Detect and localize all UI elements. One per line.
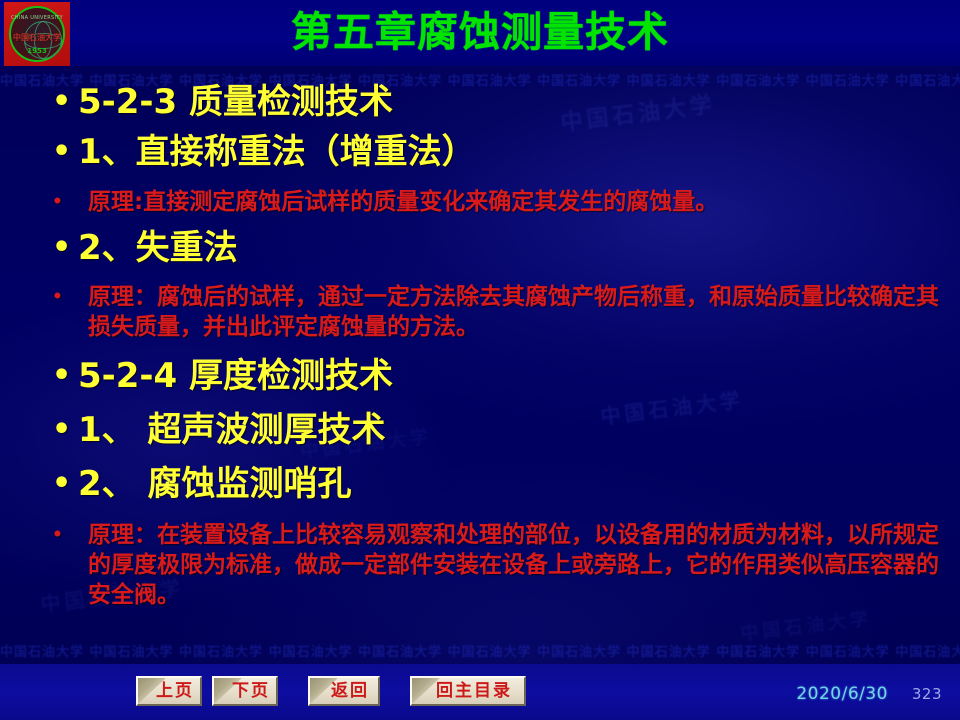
logo-arc-text: CHINA UNIVERSITY OF PETROLEUM <box>11 15 63 21</box>
slide-footer: 上页 下页 返回 回主目录 2020/6/30 323 <box>0 664 960 720</box>
sub-bullet-line: • 原理：在装置设备上比较容易观察和处理的部位，以设备用的材质为材料，以所规定的… <box>52 520 942 610</box>
back-button[interactable]: 返回 <box>308 676 380 706</box>
logo-year: 1953 <box>11 47 63 55</box>
next-page-label: 下页 <box>214 678 276 704</box>
bullet-line: • 2、 腐蚀监测哨孔 <box>52 462 352 506</box>
prev-page-label: 上页 <box>138 678 200 704</box>
bullet-marker: • <box>52 226 78 270</box>
next-page-button[interactable]: 下页 <box>212 676 278 706</box>
bullet-text: 5-2-4 厚度检测技术 <box>78 354 393 398</box>
bullet-text: 5-2-3 质量检测技术 <box>78 80 393 124</box>
main-menu-label: 回主目录 <box>412 678 524 704</box>
bullet-marker: • <box>52 80 78 124</box>
prev-page-button[interactable]: 上页 <box>136 676 202 706</box>
bullet-marker: • <box>52 520 88 550</box>
bullet-line: • 2、失重法 <box>52 226 238 270</box>
bullet-text: 2、 腐蚀监测哨孔 <box>78 462 352 506</box>
slide-canvas: 中国石油大学 中国石油大学 中国石油大学 中国石油大学 中国石油大学 中国石油大… <box>0 0 960 720</box>
bullet-marker: • <box>52 130 78 174</box>
bullet-text: 2、失重法 <box>78 226 238 270</box>
bullet-marker: • <box>52 282 88 312</box>
logo-ring: CHINA UNIVERSITY OF PETROLEUM 中国石油大学 195… <box>9 6 65 62</box>
page-title: 第五章腐蚀测量技术 <box>0 4 960 60</box>
bullet-marker: • <box>52 187 88 217</box>
sub-bullet-text: 原理：腐蚀后的试样，通过一定方法除去其腐蚀产物后称重，和原始质量比较确定其损失质… <box>88 282 942 342</box>
bullet-marker: • <box>52 354 78 398</box>
university-logo: CHINA UNIVERSITY OF PETROLEUM 中国石油大学 195… <box>4 2 70 66</box>
logo-center-text: 中国石油大学 <box>11 32 63 43</box>
main-menu-button[interactable]: 回主目录 <box>410 676 526 706</box>
bullet-marker: • <box>52 462 78 506</box>
slide-title-bar: 第五章腐蚀测量技术 <box>0 0 960 66</box>
bullet-line: • 5-2-3 质量检测技术 <box>52 80 393 124</box>
sub-bullet-text: 原理:直接测定腐蚀后试样的质量变化来确定其发生的腐蚀量。 <box>88 187 942 217</box>
back-label: 返回 <box>310 678 378 704</box>
background-watermark-band-bottom: 中国石油大学 中国石油大学 中国石油大学 中国石油大学 中国石油大学 中国石油大… <box>0 641 960 660</box>
bullet-text: 1、直接称重法（增重法） <box>78 130 476 174</box>
bullet-line: • 5-2-4 厚度检测技术 <box>52 354 393 398</box>
sub-bullet-text: 原理：在装置设备上比较容易观察和处理的部位，以设备用的材质为材料，以所规定的厚度… <box>88 520 942 610</box>
bullet-marker: • <box>52 408 78 452</box>
bullet-text: 1、 超声波测厚技术 <box>78 408 386 452</box>
footer-page-number: 323 <box>912 685 942 703</box>
sub-bullet-line: • 原理：腐蚀后的试样，通过一定方法除去其腐蚀产物后称重，和原始质量比较确定其损… <box>52 282 942 342</box>
bullet-line: • 1、 超声波测厚技术 <box>52 408 386 452</box>
slide-body: • 5-2-3 质量检测技术 • 1、直接称重法（增重法） • 原理:直接测定腐… <box>0 68 960 638</box>
sub-bullet-line: • 原理:直接测定腐蚀后试样的质量变化来确定其发生的腐蚀量。 <box>52 187 942 217</box>
footer-date: 2020/6/30 <box>796 684 888 704</box>
bullet-line: • 1、直接称重法（增重法） <box>52 130 476 174</box>
